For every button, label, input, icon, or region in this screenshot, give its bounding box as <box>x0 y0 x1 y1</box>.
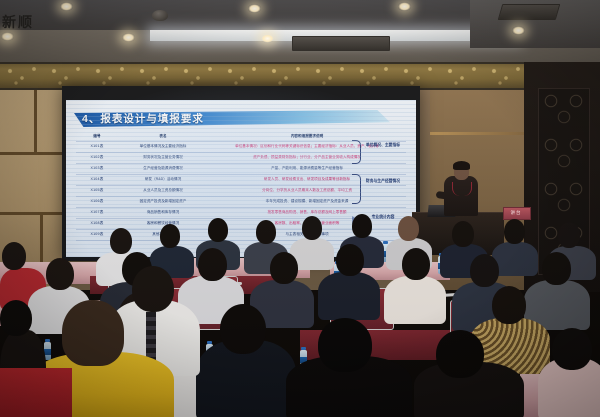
row-code: X106表 <box>76 199 118 205</box>
row-name: 生产经营及能源消费情况 <box>118 166 208 172</box>
presenter-hair <box>453 161 470 170</box>
row-code: X105表 <box>76 188 118 194</box>
row-code: X108表 <box>76 221 118 227</box>
row-name: 单位基本情况及主要经济指标 <box>118 144 208 150</box>
row-desc: 本年完成投资、建设规模、新增固定资产及资金来源 <box>208 199 406 205</box>
bottle-cap <box>45 339 50 342</box>
wall-trim <box>34 90 37 152</box>
wall-trim <box>0 152 70 155</box>
row-code: X103表 <box>76 166 118 172</box>
slide-annotation: 单位概况、主要指标 <box>363 143 403 149</box>
downlight <box>398 2 411 11</box>
banner <box>0 368 72 417</box>
air-vent <box>498 4 561 20</box>
row-name: 财务状况及主营业务情况 <box>118 155 208 161</box>
bottle-cap <box>301 347 306 350</box>
row-code: X102表 <box>76 155 118 161</box>
row-desc: 资产负债、损益类财务指标；分行业、分产品主营业务收入构成情况 <box>208 155 406 161</box>
row-name: 研发（R&D）活动情况 <box>118 177 208 183</box>
slide-brace <box>352 140 361 164</box>
conference-room-photo: 4、报表设计与填报要求 编号 表名 内容和填报要求说明 X101表 单位基本情况… <box>0 0 600 417</box>
wall-trim <box>0 212 70 215</box>
downlight <box>60 2 73 11</box>
row-desc: 分岗位、分学历从业人员期末人数及工资总额、平均工资 <box>208 188 406 194</box>
bottle-cap <box>383 241 388 244</box>
downlight <box>261 34 274 43</box>
podium-sign-text: 讲台 <box>503 207 529 218</box>
air-vent <box>292 36 390 51</box>
row-code: X101表 <box>76 144 118 150</box>
slide-title: 4、报表设计与填报要求 <box>82 112 382 126</box>
header-name: 表名 <box>118 134 208 140</box>
row-code: X104表 <box>76 177 118 183</box>
slide-brace <box>352 174 361 204</box>
row-desc: 产量、产能利用、能源消费量等生产经营指标 <box>208 166 406 172</box>
presenter-lanyard <box>452 182 472 196</box>
header-desc: 内容和填报要求说明 <box>208 134 406 140</box>
row-name: 从业人员及工资总额情况 <box>118 188 208 194</box>
row-name: 固定资产投资及新增固定资产 <box>118 199 208 205</box>
downlight <box>512 26 525 35</box>
downlight <box>248 4 261 13</box>
downlight <box>1 32 14 41</box>
row-code: X107表 <box>76 210 118 216</box>
banner-text: 新顺 <box>2 12 72 32</box>
row-name: 商品销售和库存情况 <box>118 210 208 216</box>
header-code: 编号 <box>76 134 118 140</box>
dome-camera-icon <box>152 10 168 21</box>
bottle-cap <box>207 341 212 344</box>
slide-annotation: 财务与生产经营情况 <box>363 179 403 185</box>
downlight <box>122 33 135 42</box>
